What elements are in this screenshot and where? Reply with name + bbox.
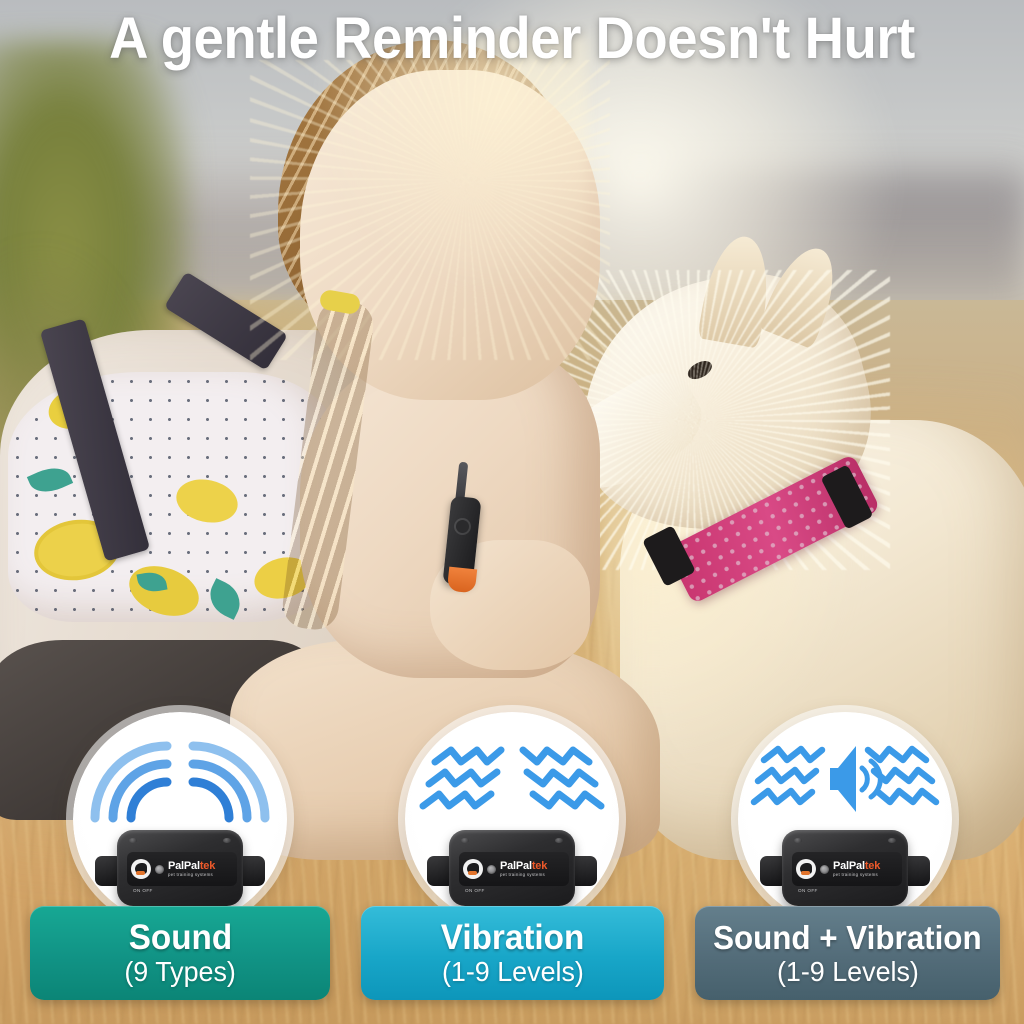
page-title: A gentle Reminder Doesn't Hurt (31, 4, 994, 74)
on-off-label: ON OFF (465, 888, 485, 893)
sound-waves-svg (73, 726, 287, 826)
device-screw (461, 838, 469, 843)
device-screw (794, 838, 802, 843)
brand-accent: tek (200, 860, 215, 872)
badge-subtitle: (1-9 Levels) (777, 956, 919, 988)
brand-primary: PalPal (833, 860, 865, 872)
on-off-label: ON OFF (133, 888, 153, 893)
on-off-label: ON OFF (798, 888, 818, 893)
feature-badge-sound: Sound (9 Types) (30, 906, 330, 1000)
device-screw (555, 838, 563, 843)
remote-dial (456, 520, 469, 533)
dog-head-logo (463, 859, 483, 879)
speaker-zigzag-svg (738, 726, 952, 826)
brand-wordmark: PalPaltek (500, 861, 547, 872)
dog-head-logo (131, 859, 151, 879)
hair-backlight (268, 34, 588, 334)
feature-circle-vibration: PalPaltek pet training systems ON OFF (405, 712, 619, 926)
brand-accent: tek (865, 860, 880, 872)
brand-primary: PalPal (500, 860, 532, 872)
device-label-panel: PalPaltek pet training systems (459, 852, 569, 886)
brand-tagline: pet training systems (500, 873, 547, 877)
feature-circle-sound: PalPaltek pet training systems ON OFF (73, 712, 287, 926)
collar-receiver-device: PalPaltek pet training systems ON OFF (760, 826, 930, 910)
vibration-zigzag-icon (405, 726, 619, 822)
collar-receiver-device: PalPaltek pet training systems ON OFF (95, 826, 265, 910)
device-screw (223, 838, 231, 843)
badge-subtitle: (1-9 Levels) (442, 956, 584, 988)
device-brand: PalPaltek pet training systems (833, 861, 880, 877)
brand-tagline: pet training systems (168, 873, 215, 877)
led-indicator (820, 865, 829, 874)
feature-circle-sound-vibration: PalPaltek pet training systems ON OFF (738, 712, 952, 926)
badge-subtitle: (9 Types) (124, 956, 236, 988)
collar-receiver-device: PalPaltek pet training systems ON OFF (427, 826, 597, 910)
brand-accent: tek (532, 860, 547, 872)
woman (0, 0, 700, 780)
device-brand: PalPaltek pet training systems (168, 861, 215, 877)
brand-primary: PalPal (168, 860, 200, 872)
brand-wordmark: PalPaltek (833, 861, 880, 872)
product-marketing-image: A gentle Reminder Doesn't Hurt (0, 0, 1024, 1024)
sound-waves-icon (73, 726, 287, 822)
feature-badge-vibration: Vibration (1-9 Levels) (361, 906, 664, 1000)
badge-title: Sound + Vibration (713, 920, 982, 956)
device-brand: PalPaltek pet training systems (500, 861, 547, 877)
device-label-panel: PalPaltek pet training systems (792, 852, 902, 886)
speaker-with-zigzag-icon (738, 726, 952, 822)
device-label-panel: PalPaltek pet training systems (127, 852, 237, 886)
dog-head-logo (796, 859, 816, 879)
device-screw (129, 838, 137, 843)
vibration-zigzag-svg (405, 726, 619, 826)
brand-tagline: pet training systems (833, 873, 880, 877)
led-indicator (155, 865, 164, 874)
badge-title: Vibration (441, 920, 584, 956)
feature-badge-sound-vibration: Sound + Vibration (1-9 Levels) (695, 906, 1000, 1000)
led-indicator (487, 865, 496, 874)
brand-wordmark: PalPaltek (168, 861, 215, 872)
device-screw (888, 838, 896, 843)
badge-title: Sound (128, 920, 231, 956)
